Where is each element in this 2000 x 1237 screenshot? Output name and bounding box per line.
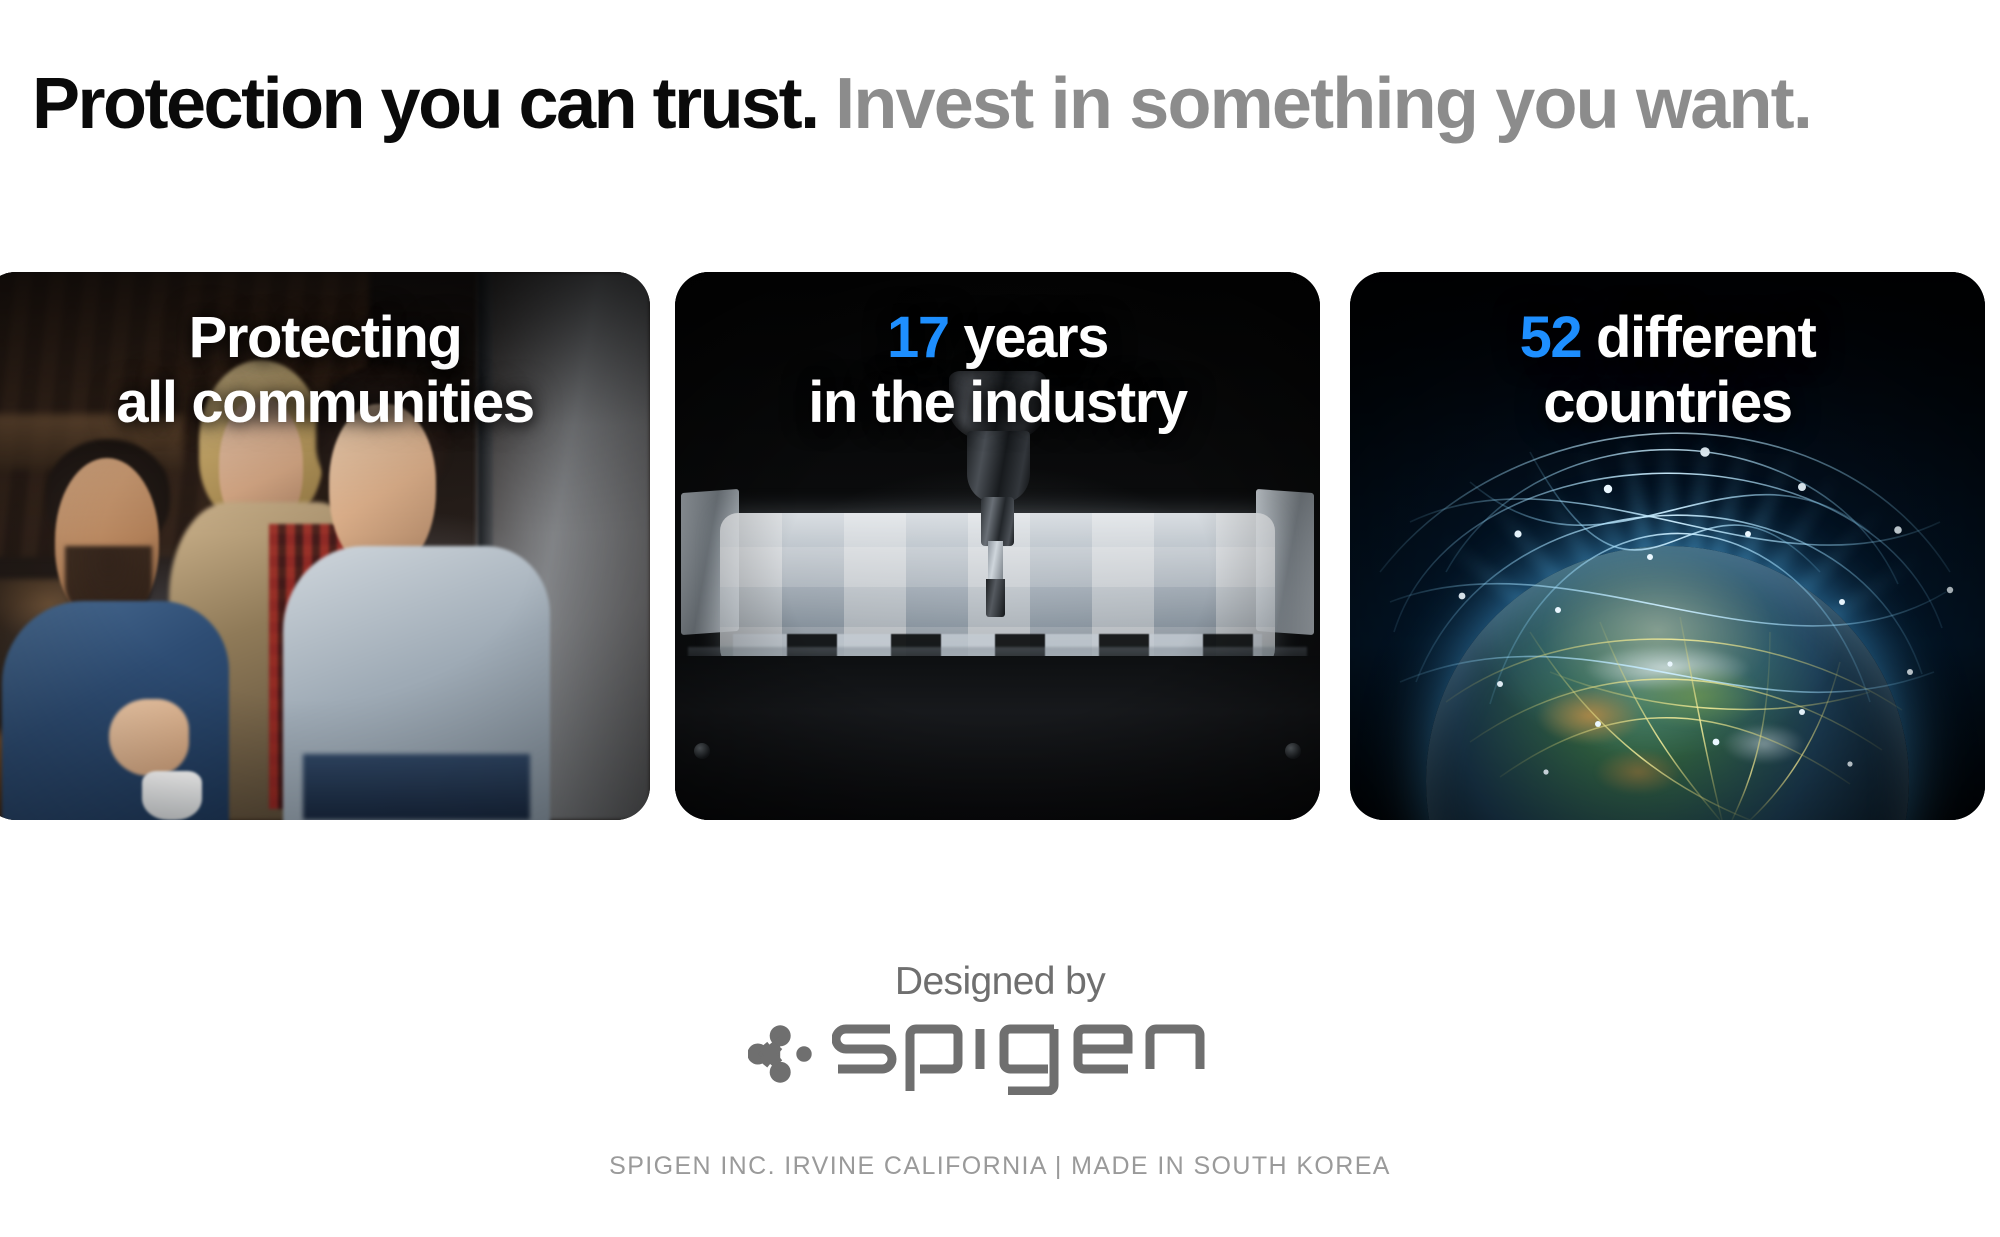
card-caption: 17 years in the industry bbox=[675, 306, 1320, 436]
headline-primary: Protection you can trust. bbox=[32, 64, 818, 144]
feature-card-protecting-all-communities[interactable]: Protecting all communities bbox=[0, 272, 650, 820]
card-caption-line-2: countries bbox=[1350, 371, 1985, 436]
card-caption-line-2: all communities bbox=[0, 371, 650, 436]
designed-by-label: Designed by bbox=[0, 962, 2000, 1001]
feature-card-row: Protecting all communities bbox=[0, 272, 2000, 820]
page-title: Protection you can trust. Invest in some… bbox=[32, 68, 1811, 140]
spigen-wordmark bbox=[832, 1013, 1252, 1095]
legal-footer: SPIGEN INC. IRVINE CALIFORNIA | MADE IN … bbox=[0, 1152, 2000, 1181]
feature-card-52-different-countries[interactable]: 52 different countries bbox=[1350, 272, 1985, 820]
headline-secondary: Invest in something you want. bbox=[835, 64, 1811, 144]
card-stat-label: years bbox=[949, 305, 1108, 370]
card-caption-line-1: 52 different bbox=[1350, 306, 1985, 371]
card-caption-line-1: 17 years bbox=[675, 306, 1320, 371]
card-stat-number: 52 bbox=[1520, 305, 1582, 370]
card-stat-label: different bbox=[1581, 305, 1815, 370]
card-caption: Protecting all communities bbox=[0, 306, 650, 436]
brand-lockup: Designed by bbox=[0, 962, 2000, 1095]
feature-card-17-years-in-the-industry[interactable]: 17 years in the industry bbox=[675, 272, 1320, 820]
marketing-banner: Protection you can trust. Invest in some… bbox=[0, 0, 2000, 1237]
card-caption-line-1: Protecting bbox=[0, 306, 650, 371]
card-caption-line-2: in the industry bbox=[675, 371, 1320, 436]
spigen-logo-mark bbox=[748, 1019, 818, 1089]
card-caption: 52 different countries bbox=[1350, 306, 1985, 436]
card-stat-number: 17 bbox=[887, 305, 949, 370]
